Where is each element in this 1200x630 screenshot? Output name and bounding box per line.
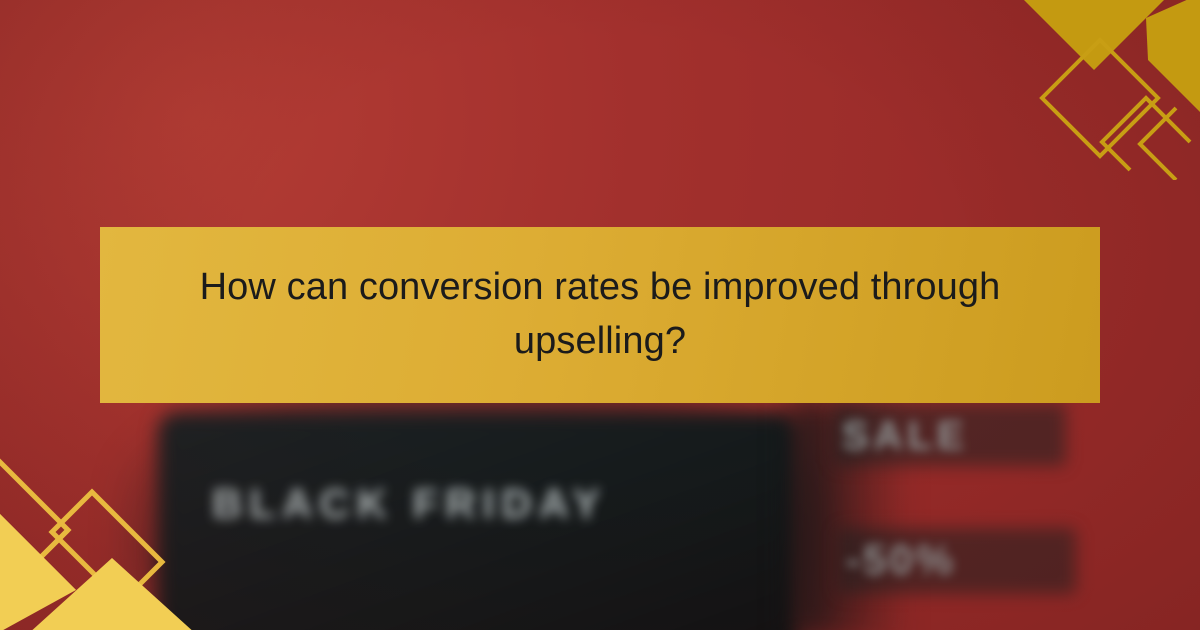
headline-banner: How can conversion rates be improved thr…	[100, 227, 1100, 403]
bottom-left-chevron-ornament	[0, 410, 220, 630]
top-right-chevron-ornament	[980, 0, 1200, 180]
social-share-card: BLACK FRIDAY SALE -50%	[0, 0, 1200, 630]
page-title: How can conversion rates be improved thr…	[160, 261, 1040, 369]
